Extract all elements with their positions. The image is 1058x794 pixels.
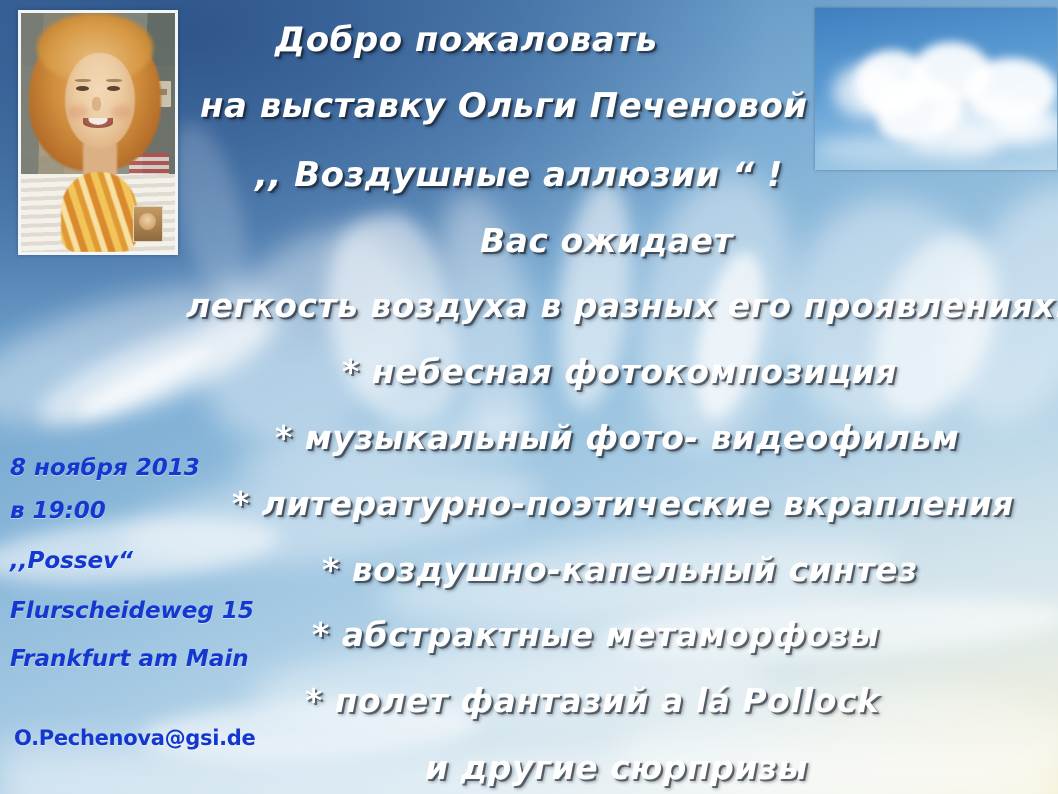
heading-line-welcome: Добро пожаловать <box>275 20 657 60</box>
heading-line-lightness: легкость воздуха в разных его проявления… <box>186 286 1058 325</box>
heading-line-awaits: Вас ожидает <box>480 221 733 260</box>
venue-name: ,,Possev“ <box>10 548 133 574</box>
event-date: 8 ноября 2013 <box>10 455 200 481</box>
venue-street: Flurscheideweg 15 <box>10 598 254 624</box>
artist-portrait-photo <box>18 10 178 255</box>
closing-line-other-surprises: и другие сюрпризы <box>425 748 808 787</box>
heart-shaped-cloud-photo <box>815 8 1057 170</box>
heading-line-title: ,, Воздушные аллюзии “ ! <box>255 155 783 195</box>
bullet-sky-photocomposition: * небесная фотокомпозиция <box>342 352 897 391</box>
eyebrow-right <box>106 79 122 82</box>
heading-line-exhibition: на выставку Ольги Печеновой <box>200 86 808 126</box>
cheek-left <box>68 105 88 119</box>
bullet-abstract-metamorphoses: * абстрактные метаморфозы <box>312 615 880 654</box>
eye-left <box>76 86 89 91</box>
exhibition-invitation-poster: Добро пожаловать на выставку Ольги Печен… <box>0 0 1058 794</box>
venue-city: Frankfurt am Main <box>10 646 249 672</box>
bullet-flight-of-fantasy: * полет фантазий а lá Pollock <box>305 681 880 720</box>
bullet-air-droplet-synthesis: * воздушно-капельный синтез <box>322 550 918 589</box>
nose <box>92 97 101 111</box>
eye-right <box>107 86 120 91</box>
smiling-mouth <box>83 118 113 128</box>
eyebrow-left <box>75 79 91 82</box>
event-time: в 19:00 <box>10 498 106 524</box>
bullet-musical-photo-video: * музыкальный фото- видеофильм <box>275 418 959 457</box>
bullet-literary-poetic: * литературно-поэтические вкрапления <box>232 484 1014 523</box>
yellow-scarf <box>61 172 137 252</box>
cheek-right <box>111 105 131 119</box>
id-badge <box>133 206 163 242</box>
contact-email[interactable]: O.Pechenova@gsi.de <box>14 726 255 750</box>
